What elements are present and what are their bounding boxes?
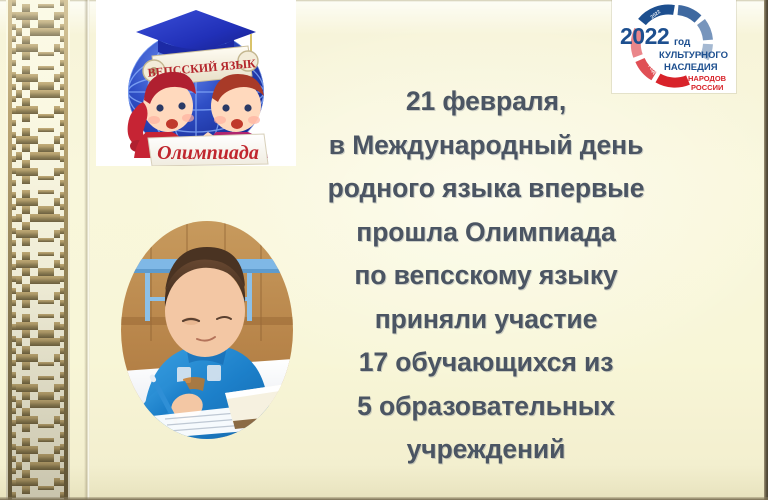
headline-line-8: 5 образовательных [296,385,676,429]
headline-line-5: по вепсскому языку [296,254,676,298]
headline-line-1: 21 февраля, [296,80,676,124]
globe-graduation-children-icon: ВЕПССКИЙ ЯЗЫК [96,0,296,166]
headline-line-7: 17 обучающихся из [296,341,676,385]
headline-line-4: прошла Олимпиада [296,211,676,255]
svg-text:НАСЛЕДИЯ: НАСЛЕДИЯ [664,62,718,73]
slide-headline: 21 февраля, в Международный день родного… [296,80,676,472]
banner-icon: Олимпиада [148,134,268,166]
headline-line-2: в Международный день [296,124,676,168]
svg-text:Олимпиада: Олимпиада [157,142,259,164]
ornament-pattern-icon [6,0,70,500]
svg-text:РОССИИ: РОССИИ [691,83,723,92]
olympiad-emblem: ВЕПССКИЙ ЯЗЫК [96,0,296,166]
headline-line-9: учреждений [296,428,676,472]
ornamental-border [6,0,70,500]
svg-text:НАРОДОВ: НАРОДОВ [688,74,727,83]
svg-text:КУЛЬТУРНОГО: КУЛЬТУРНОГО [659,50,728,61]
panel-divider [84,0,90,500]
slide-right-edge [764,0,768,500]
svg-text:2022: 2022 [620,23,669,49]
pupil-photo [121,221,293,439]
headline-line-3: родного языка впервые [296,167,676,211]
svg-text:год: год [674,37,691,48]
presentation-slide: ВЕПССКИЙ ЯЗЫК [0,0,768,500]
headline-line-6: приняли участие [296,298,676,342]
boy-writing-photo-icon [121,221,293,439]
